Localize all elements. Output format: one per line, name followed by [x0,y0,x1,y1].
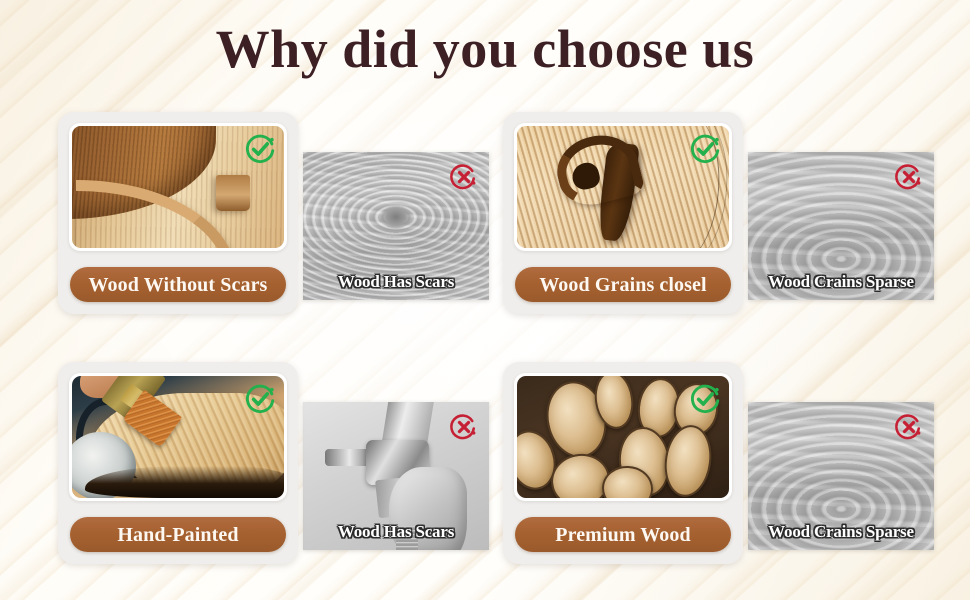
cross-circle-icon [449,412,479,442]
good-card-3[interactable]: Hand-Painted [58,362,298,564]
check-circle-icon [243,382,277,416]
bad-card-label: Wood Crains Sparse [748,272,934,292]
good-card-2[interactable]: Wood Grains closel [503,112,743,314]
good-photo-frame [514,123,732,251]
bad-card-label: Wood Has Scars [303,272,489,292]
bad-card-label: Wood Has Scars [303,522,489,542]
good-card-pill[interactable]: Wood Grains closel [515,267,731,302]
good-card-label: Wood Without Scars [89,275,268,295]
hand-painting-violin-photo [72,376,284,498]
cross-circle-icon [894,162,924,192]
good-card-pill[interactable]: Hand-Painted [70,517,286,552]
fine-wood-grain-scroll-photo [517,126,729,248]
bad-card-2[interactable]: Wood Crains Sparse [748,152,934,300]
good-card-label: Premium Wood [555,525,690,545]
page-title: Why did you choose us [0,18,970,80]
cross-circle-icon [894,412,924,442]
good-card-4[interactable]: Premium Wood [503,362,743,564]
check-circle-icon [688,382,722,416]
good-card-1[interactable]: Wood Without Scars [58,112,298,314]
good-card-pill[interactable]: Wood Without Scars [70,267,286,302]
good-photo-frame [69,123,287,251]
bad-card-1[interactable]: Wood Has Scars [303,152,489,300]
bad-card-3[interactable]: Wood Has Scars [303,402,489,550]
stacked-cut-logs-photo [517,376,729,498]
bad-card-label: Wood Crains Sparse [748,522,934,542]
good-photo-frame [69,373,287,501]
good-card-pill[interactable]: Premium Wood [515,517,731,552]
check-circle-icon [688,132,722,166]
infographic-page: Why did you choose us Wood Has Scars [0,0,970,600]
good-card-label: Wood Grains closel [539,275,706,295]
carved-wood-scroll-photo [72,126,284,248]
good-card-label: Hand-Painted [117,525,238,545]
good-photo-frame [514,373,732,501]
cross-circle-icon [449,162,479,192]
bad-card-4[interactable]: Wood Crains Sparse [748,402,934,550]
check-circle-icon [243,132,277,166]
